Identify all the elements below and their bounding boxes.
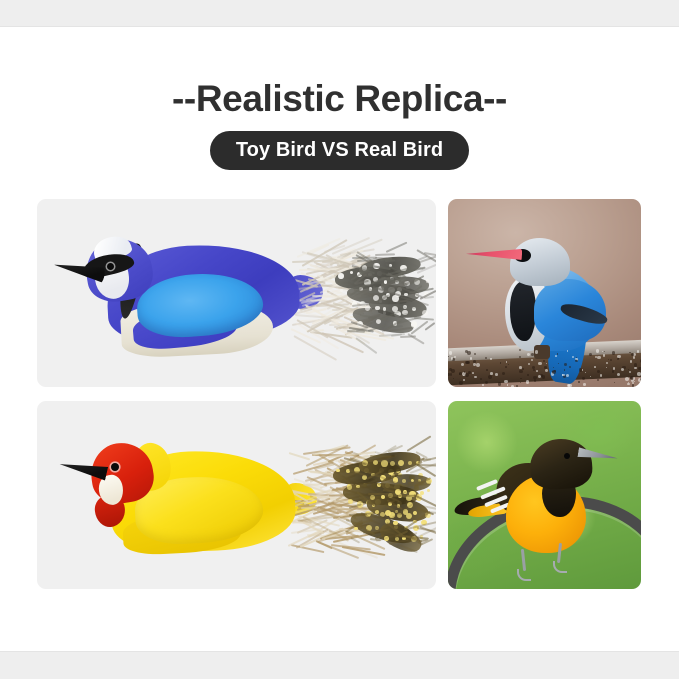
branch-texture-speck bbox=[638, 367, 641, 371]
comparison-row bbox=[37, 401, 641, 589]
branch-texture-speck bbox=[531, 353, 534, 356]
branch-texture-speck bbox=[566, 374, 569, 377]
branch-texture-speck bbox=[572, 356, 574, 358]
toy-blue-eye bbox=[107, 263, 114, 270]
branch-texture-speck bbox=[519, 370, 522, 373]
branch-texture-speck bbox=[527, 374, 529, 376]
branch-texture-speck bbox=[526, 380, 530, 384]
branch-texture-speck bbox=[583, 383, 586, 386]
branch-texture-speck bbox=[519, 366, 522, 369]
branch-texture-speck bbox=[465, 373, 469, 377]
branch-texture-speck bbox=[612, 370, 615, 373]
page-title: --Realistic Replica-- bbox=[0, 78, 679, 121]
real-bird-photo-oriole bbox=[448, 401, 641, 589]
branch-texture-speck bbox=[449, 368, 452, 371]
bottom-band bbox=[0, 651, 679, 679]
branch-texture-speck bbox=[562, 374, 564, 376]
branch-texture-speck bbox=[544, 366, 546, 368]
branch-texture-speck bbox=[490, 372, 493, 375]
branch-texture-speck bbox=[555, 355, 557, 357]
branch-texture-speck bbox=[637, 372, 641, 376]
branch-texture-speck bbox=[597, 379, 599, 381]
branch-texture-speck bbox=[603, 354, 605, 356]
toy-blue-feather-tail bbox=[289, 247, 436, 339]
branch-texture-speck bbox=[606, 362, 608, 364]
branch-texture-speck bbox=[519, 356, 521, 358]
branch-texture-speck bbox=[579, 368, 582, 371]
branch-texture-speck bbox=[505, 366, 507, 368]
branch-texture-speck bbox=[490, 358, 491, 359]
branch-texture-speck bbox=[459, 373, 460, 374]
branch-texture-speck bbox=[516, 385, 518, 387]
comparison-grid bbox=[37, 199, 641, 589]
branch-texture-speck bbox=[568, 384, 572, 387]
branch-texture-speck bbox=[461, 363, 464, 366]
branch-texture-speck bbox=[567, 350, 569, 352]
real-bird-photo-kingfisher bbox=[448, 199, 641, 387]
branch-texture-speck bbox=[640, 378, 641, 381]
toy-bird-panel-yellow bbox=[37, 401, 436, 589]
toy-yellow-feather-tail bbox=[285, 447, 436, 551]
toy-bird-blue-jay bbox=[37, 199, 436, 387]
branch-texture-speck bbox=[506, 361, 507, 362]
branch-texture-speck bbox=[578, 381, 579, 382]
branch-texture-speck bbox=[504, 380, 507, 383]
top-band bbox=[0, 0, 679, 27]
branch-texture-speck bbox=[482, 384, 484, 386]
branch-texture-speck bbox=[507, 384, 508, 385]
branch-texture-speck bbox=[596, 349, 600, 353]
branch-texture-speck bbox=[634, 367, 636, 369]
branch-texture-speck bbox=[470, 357, 472, 359]
badge-row: Toy Bird VS Real Bird bbox=[0, 131, 679, 170]
kingfisher-shoulder-patch bbox=[510, 281, 536, 341]
branch-texture-speck bbox=[617, 355, 621, 359]
toy-bird-panel-blue bbox=[37, 199, 436, 387]
kingfisher-head bbox=[510, 238, 570, 286]
branch-texture-speck bbox=[553, 367, 554, 368]
comparison-row bbox=[37, 199, 641, 387]
branch-texture-speck bbox=[527, 353, 530, 356]
branch-texture-speck bbox=[569, 366, 571, 368]
branch-texture-speck bbox=[485, 381, 488, 384]
branch-texture-speck bbox=[594, 366, 596, 368]
comparison-badge: Toy Bird VS Real Bird bbox=[210, 131, 469, 170]
branch-texture-speck bbox=[640, 359, 641, 363]
branch-texture-speck bbox=[630, 360, 633, 363]
branch-texture-speck bbox=[542, 375, 545, 378]
product-image-card: --Realistic Replica-- Toy Bird VS Real B… bbox=[0, 0, 679, 679]
branch-texture-speck bbox=[463, 379, 465, 381]
branch-texture-speck bbox=[472, 372, 474, 374]
branch-texture-speck bbox=[500, 362, 501, 363]
branch-texture-speck bbox=[448, 373, 450, 376]
toy-yellow-eye bbox=[111, 463, 119, 471]
branch-texture-speck bbox=[552, 370, 556, 374]
branch-texture-speck bbox=[630, 377, 632, 379]
branch-texture-speck bbox=[476, 363, 480, 367]
branch-texture-speck bbox=[535, 350, 538, 353]
branch-texture-speck bbox=[600, 374, 603, 377]
branch-texture-speck bbox=[633, 377, 635, 379]
branch-texture-speck bbox=[495, 373, 498, 376]
branch-texture-speck bbox=[536, 370, 538, 372]
branch-texture-speck bbox=[597, 356, 600, 359]
branch-texture-speck bbox=[511, 385, 514, 387]
branch-texture-speck bbox=[606, 367, 607, 368]
branch-texture-speck bbox=[459, 381, 463, 385]
branch-texture-speck bbox=[585, 372, 586, 373]
branch-texture-speck bbox=[558, 363, 559, 364]
branch-texture-speck bbox=[474, 353, 476, 355]
header-block: --Realistic Replica-- Toy Bird VS Real B… bbox=[0, 78, 679, 170]
branch-texture-speck bbox=[450, 373, 452, 375]
branch-texture-speck bbox=[467, 351, 471, 355]
oriole-eye bbox=[564, 453, 570, 459]
toy-bird-yellow-red-head bbox=[37, 401, 436, 589]
branch-texture-speck bbox=[449, 351, 452, 354]
branch-texture-speck bbox=[617, 358, 619, 360]
branch-texture-speck bbox=[534, 379, 536, 381]
branch-texture-speck bbox=[632, 384, 634, 386]
branch-texture-speck bbox=[543, 360, 545, 362]
branch-texture-speck bbox=[486, 369, 488, 371]
